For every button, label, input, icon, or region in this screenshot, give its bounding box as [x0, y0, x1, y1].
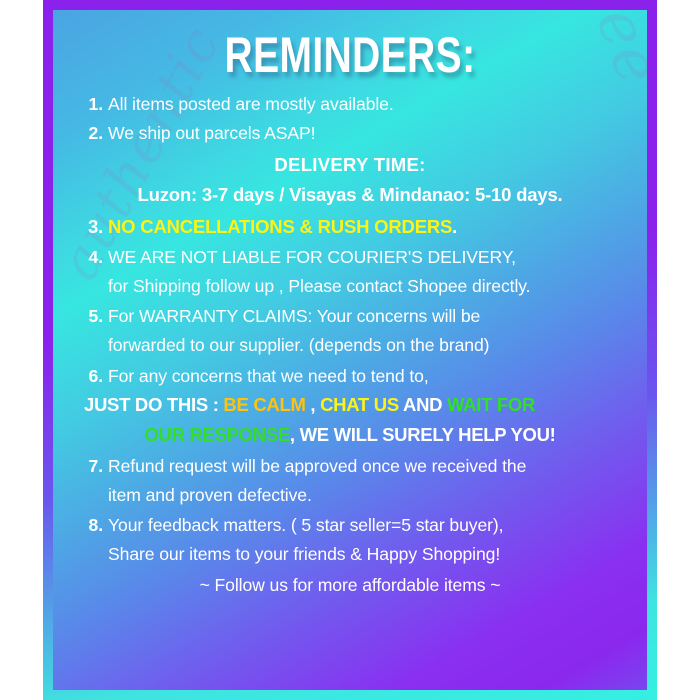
reminder-text-3-highlight: NO CANCELLATIONS & RUSH ORDERS [108, 216, 452, 237]
reminder-text-6: For any concerns that we need to tend to… [108, 366, 429, 386]
reminder-text-2: We ship out parcels ASAP! [108, 123, 315, 143]
delivery-time-detail: Luzon: 3-7 days / Visayas & Mindanao: 5-… [67, 186, 633, 205]
delivery-time-heading: DELIVERY TIME: [67, 156, 633, 175]
reminder-item-4: 4.WE ARE NOT LIABLE FOR COURIER'S DELIVE… [81, 249, 633, 267]
reminder-text-3-period: . [452, 216, 457, 237]
reminder-number-6: 6. [81, 368, 103, 386]
reminder-item-5: 5.For WARRANTY CLAIMS: Your concerns wil… [81, 308, 633, 326]
reminder-text-4-cont: for Shipping follow up , Please contact … [108, 276, 530, 296]
reminder-text-1: All items posted are mostly available. [108, 94, 394, 114]
reminder-text-7-cont: item and proven defective. [108, 485, 312, 505]
reminder-text-4: WE ARE NOT LIABLE FOR COURIER'S DELIVERY… [108, 247, 516, 267]
reminder-item-5-cont: forwarded to our supplier. (depends on t… [108, 337, 633, 355]
action-label-just-do-this: JUST DO THIS : [84, 394, 223, 415]
reminder-number-4: 4. [81, 249, 103, 267]
reminder-text-5-cont: forwarded to our supplier. (depends on t… [108, 335, 489, 355]
page-title: REMINDERS: [129, 30, 570, 80]
poster-panel: shopee authentic REMINDERS: 1.All items … [53, 10, 647, 690]
reminder-item-7-cont: item and proven defective. [108, 487, 633, 505]
poster-root: shopee authentic REMINDERS: 1.All items … [0, 0, 700, 700]
action-sep-comma: , [306, 394, 321, 415]
reminder-item-3: 3.NO CANCELLATIONS & RUSH ORDERS. [81, 218, 633, 237]
reminder-item-8-cont: Share our items to your friends & Happy … [108, 546, 633, 564]
reminder-item-8: 8.Your feedback matters. ( 5 star seller… [81, 517, 633, 535]
reminder-number-8: 8. [81, 517, 103, 535]
reminder-item-6-action: JUST DO THIS : BE CALM , CHAT US AND WAI… [84, 396, 633, 415]
reminder-number-1: 1. [81, 96, 103, 114]
reminder-text-8-cont: Share our items to your friends & Happy … [108, 544, 500, 564]
reminder-number-3: 3. [81, 218, 103, 237]
reminder-item-6: 6.For any concerns that we need to tend … [81, 368, 633, 386]
action-label-help-you: , WE WILL SURELY HELP YOU! [290, 424, 556, 445]
reminder-item-7: 7.Refund request will be approved once w… [81, 458, 633, 476]
action-label-be-calm: BE CALM [223, 394, 305, 415]
action-label-and: AND [399, 394, 447, 415]
reminder-number-7: 7. [81, 458, 103, 476]
poster-content: REMINDERS: 1.All items posted are mostly… [53, 10, 647, 594]
reminder-text-5: For WARRANTY CLAIMS: Your concerns will … [108, 306, 480, 326]
reminder-item-2: 2.We ship out parcels ASAP! [81, 125, 633, 143]
reminder-text-8: Your feedback matters. ( 5 star seller=5… [108, 515, 503, 535]
reminder-item-6-action-cont: OUR RESPONSE, WE WILL SURELY HELP YOU! [67, 426, 633, 445]
action-label-wait-for: WAIT FOR [447, 394, 535, 415]
reminder-number-5: 5. [81, 308, 103, 326]
reminder-item-1: 1.All items posted are mostly available. [81, 96, 633, 114]
follow-us-footer: ~ Follow us for more affordable items ~ [67, 577, 633, 595]
reminder-number-2: 2. [81, 125, 103, 143]
action-label-chat-us: CHAT US [320, 394, 399, 415]
action-label-our-response: OUR RESPONSE [144, 424, 289, 445]
reminder-text-7: Refund request will be approved once we … [108, 456, 526, 476]
reminder-item-4-cont: for Shipping follow up , Please contact … [108, 278, 633, 296]
